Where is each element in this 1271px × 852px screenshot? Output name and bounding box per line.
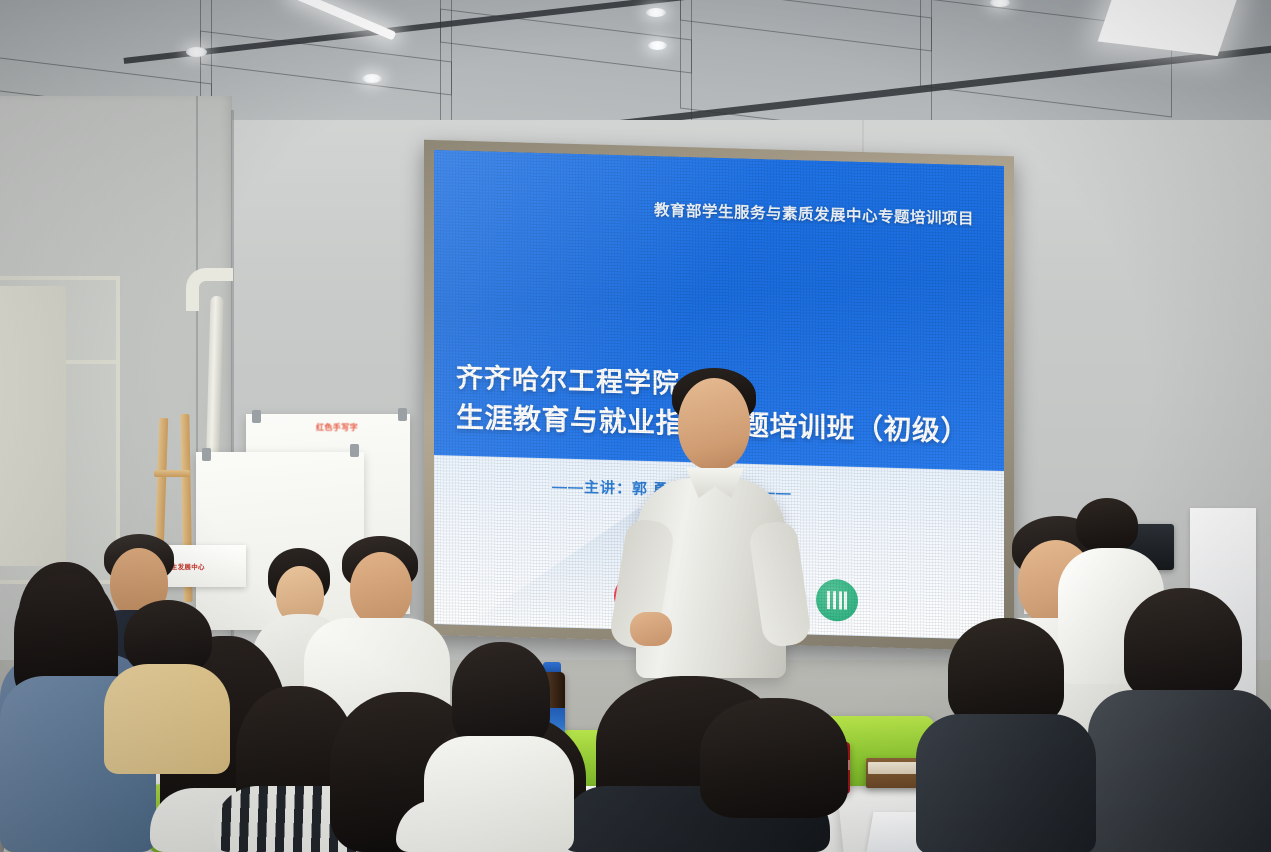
whiteboard-clip-2	[398, 408, 407, 421]
whiteboard-clip-3	[202, 448, 211, 461]
slide-green-logo-icon	[816, 579, 858, 622]
whiteboard-red-note: 红色手写字	[316, 422, 358, 433]
whiteboard-clip-1	[252, 410, 261, 423]
slide-title-line1: 齐齐哈尔工程学院	[456, 356, 680, 401]
downlight-5	[648, 41, 667, 50]
whiteboard-clip-4	[350, 444, 359, 457]
classroom-photo-scene: 教育部学生服务与素质发展中心专题培训项目 齐齐哈尔工程学院 生涯教育与就业指导专…	[0, 0, 1271, 852]
downlight-2	[362, 74, 382, 83]
presenter-head	[678, 378, 750, 470]
downlight-1	[186, 47, 207, 57]
left-door-panel[interactable]	[0, 286, 66, 566]
presenter-hand	[630, 612, 672, 646]
easel-crossbar-1	[154, 470, 190, 477]
downlight-3	[646, 8, 666, 17]
